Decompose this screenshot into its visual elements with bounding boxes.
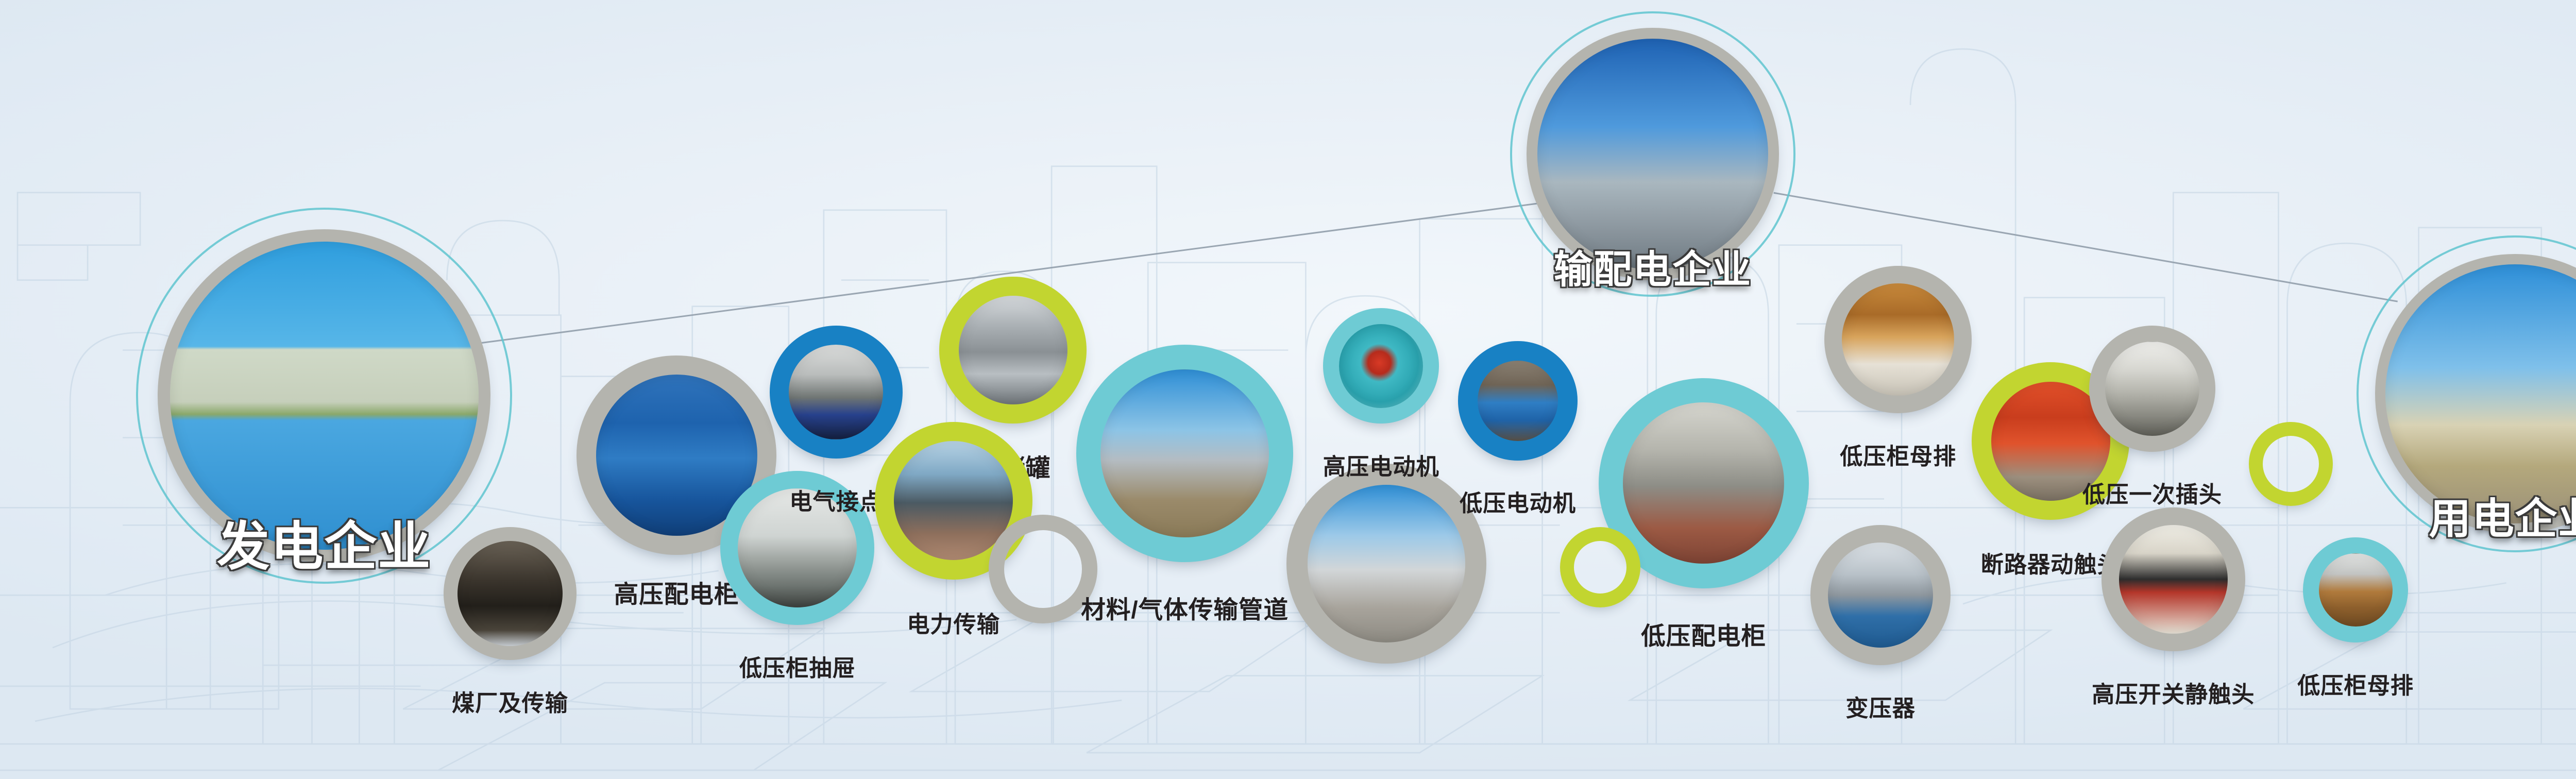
decorative-ring (2249, 422, 2333, 506)
photo-teal-red-motor-rotor (1339, 324, 1423, 408)
photo-copper-busbars (1842, 283, 1954, 396)
photo-blue-lv-motor (1478, 361, 1558, 441)
hero-title-transmission: 输配电企业 (1554, 238, 1752, 294)
node-lv-motor[interactable] (1458, 341, 1577, 460)
hero-title-power-consumer: 用电企业 (2429, 485, 2576, 546)
node-caption-transformer: 变压器 (1845, 690, 1916, 723)
node-transformer[interactable] (1810, 525, 1951, 665)
photo-disc[interactable] (2089, 326, 2215, 452)
node-caption-lv-switchgear: 低压配电柜 (1641, 616, 1766, 652)
photo-lv-busbar-closeup (2319, 553, 2393, 627)
node-hv-switch-fixed-contact[interactable] (2102, 507, 2245, 651)
node-lv-primary-plug[interactable] (2089, 326, 2215, 452)
photo-silver-silos (959, 296, 1067, 404)
node-lv-busbar-bottom[interactable] (2303, 537, 2408, 642)
node-boiler-stack-plant[interactable] (1286, 464, 1486, 664)
node-ring-spacer-b[interactable] (1560, 527, 1640, 607)
node-caption-material-gas-pipeline: 材料/气体传输管道 (1081, 590, 1289, 625)
photo-disc[interactable] (1458, 341, 1577, 460)
node-lv-busbar-top[interactable] (1824, 266, 1972, 413)
node-caption-hv-switch-fixed-contact: 高压开关静触头 (2092, 676, 2255, 709)
node-hv-motor[interactable] (1323, 308, 1438, 424)
hero-node-power-generation[interactable]: 发电企业 (158, 229, 490, 562)
hero-node-power-consumer[interactable]: 用电企业 (2375, 254, 2576, 534)
decorative-ring (1560, 527, 1640, 607)
hero-node-transmission[interactable]: 输配电企业 (1527, 28, 1779, 280)
node-caption-coal-plant-transport: 煤厂及传输 (452, 685, 568, 718)
photo-disc[interactable] (2303, 537, 2408, 642)
photo-lv-panel-row (1623, 402, 1784, 564)
node-caption-lv-busbar-bottom: 低压柜母排 (2297, 667, 2414, 700)
photo-terminal-block-wiring (789, 345, 884, 439)
photo-disc[interactable] (939, 277, 1087, 424)
node-caption-electrical-contact: 电气接点 (789, 483, 883, 516)
node-caption-breaker-moving-contact: 断路器动触头 (1981, 546, 2121, 579)
photo-plug-contacts-cables (2105, 342, 2200, 436)
photo-disc[interactable] (1810, 525, 1951, 665)
node-caption-lv-primary-plug: 低压一次插头 (2082, 476, 2222, 509)
photo-pipe-rack-corridor (1100, 369, 1268, 537)
node-caption-lv-cabinet-drawer: 低压柜抽屉 (739, 650, 856, 683)
node-caption-hv-motor: 高压电动机 (1323, 448, 1439, 481)
photo-disc[interactable] (1286, 464, 1486, 664)
node-caption-power-transmission: 电力传输 (907, 606, 1000, 639)
photo-disc[interactable] (1824, 266, 1972, 413)
photo-disc[interactable] (2102, 507, 2245, 651)
node-caption-lv-busbar-top: 低压柜母排 (1840, 438, 1956, 471)
node-caption-lv-motor: 低压电动机 (1460, 485, 1576, 518)
photo-disc[interactable] (1076, 345, 1294, 562)
infographic-canvas: 煤厂及传输高压配电柜低压柜抽屉电气接点存储罐电力传输材料/气体传输管道高压电动机… (0, 0, 2576, 779)
hero-title-power-generation: 发电企业 (217, 504, 431, 580)
node-storage-tank[interactable] (939, 277, 1087, 424)
photo-chemical-plant-stack (1308, 485, 1465, 642)
node-ring-spacer-c[interactable] (2249, 422, 2333, 506)
node-material-gas-pipeline[interactable] (1076, 345, 1294, 562)
photo-outdoor-transformer (1828, 543, 1933, 648)
photo-switch-fixed-contacts (2119, 525, 2228, 634)
photo-disc[interactable] (1323, 308, 1438, 424)
